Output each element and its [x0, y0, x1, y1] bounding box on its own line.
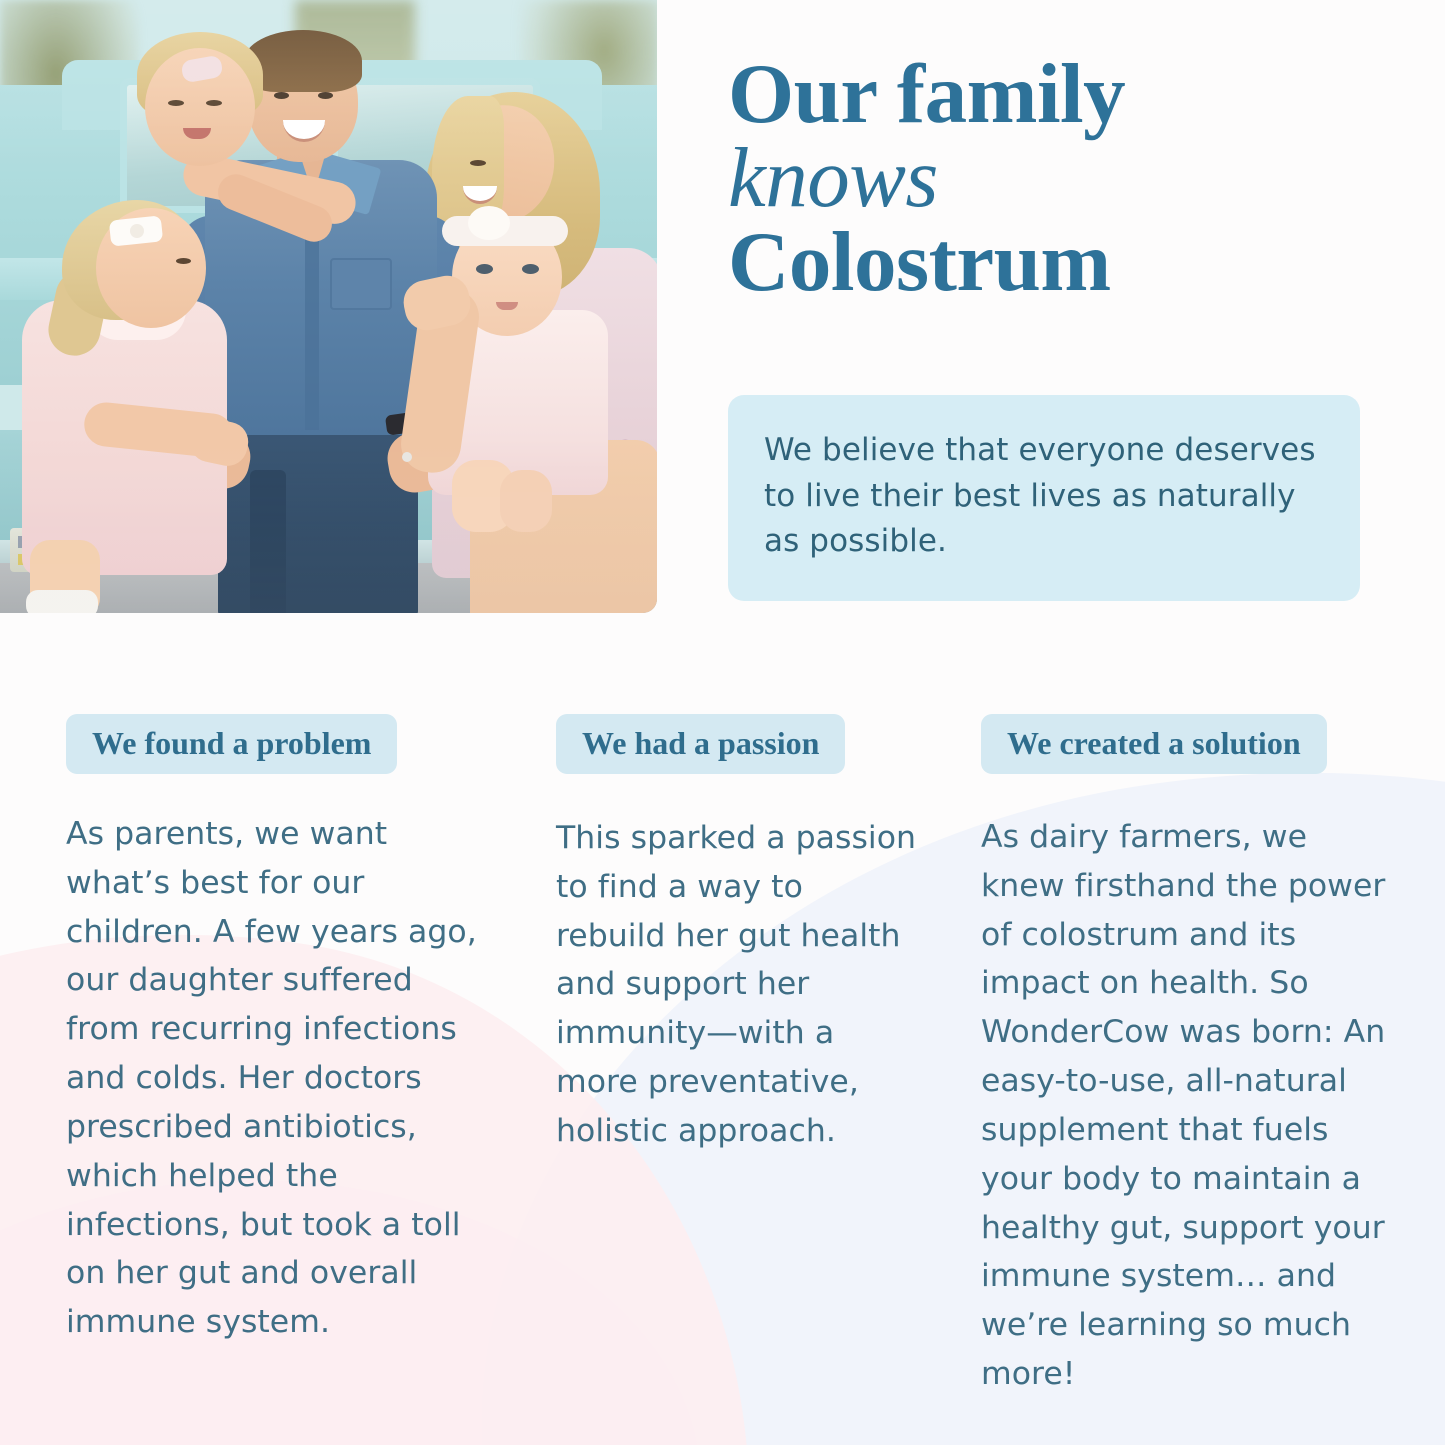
column-body-solution: As dairy farmers, we knew firsthand the … [981, 813, 1391, 1399]
family-photo [0, 0, 657, 613]
page-title: Our familyknowsColostrum [728, 52, 1388, 304]
story-column-passion: We had a passion This sparked a passion … [556, 714, 921, 1156]
photo-light-overlay [0, 0, 657, 613]
mission-statement-text: We believe that everyone deserves to liv… [764, 428, 1324, 565]
column-heading-pill-passion: We had a passion [556, 714, 845, 774]
hero-line-1: Our family [728, 47, 1125, 141]
story-column-problem: We found a problem As parents, we want w… [66, 714, 486, 1347]
column-heading-pill-problem: We found a problem [66, 714, 397, 774]
hero-line-2-italic: knows [728, 136, 1388, 220]
column-heading-pill-solution: We created a solution [981, 714, 1327, 774]
column-body-problem: As parents, we want what’s best for our … [66, 810, 486, 1347]
story-column-solution: We created a solution As dairy farmers, … [981, 714, 1391, 1399]
hero-heading-block: Our familyknowsColostrum [728, 52, 1388, 304]
column-body-passion: This sparked a passion to find a way to … [556, 814, 921, 1156]
mission-callout-box: We believe that everyone deserves to liv… [728, 395, 1360, 601]
hero-line-3: Colostrum [728, 220, 1388, 304]
